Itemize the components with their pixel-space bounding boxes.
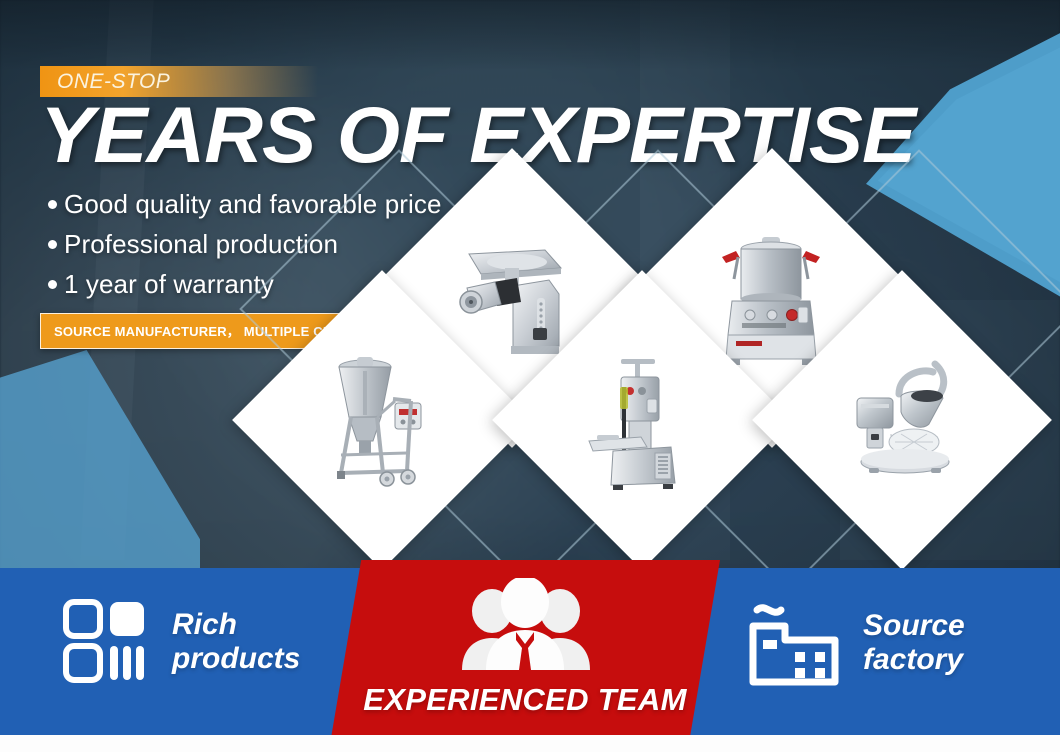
team-people-icon xyxy=(450,578,600,674)
experienced-team-content: EXPERIENCED TEAM xyxy=(355,578,695,718)
feature-label-line1: Rich xyxy=(172,608,300,642)
feature-label-line1: Source xyxy=(863,609,965,643)
feature-label: Rich products xyxy=(172,608,300,675)
product-tile-blender-trolley[interactable] xyxy=(232,270,532,570)
blender-trolley-image xyxy=(307,343,457,498)
feature-label: Source factory xyxy=(863,609,965,676)
factory-icon xyxy=(745,596,843,690)
product-diamond-gallery xyxy=(0,0,1060,600)
feature-label: EXPERIENCED TEAM xyxy=(363,682,686,718)
product-tile-bone-saw[interactable] xyxy=(492,270,792,570)
feature-label-line2: factory xyxy=(863,643,965,677)
grid-products-icon xyxy=(60,596,152,688)
bottom-white-strip xyxy=(0,735,1060,752)
ice-shaver-image xyxy=(827,350,977,490)
feature-source-factory[interactable]: Source factory xyxy=(745,596,965,690)
bone-saw-image xyxy=(567,343,717,498)
promo-banner: ONE-STOP YEARS OF EXPERTISE Good quality… xyxy=(0,0,1060,752)
feature-rich-products[interactable]: Rich products xyxy=(60,596,300,688)
feature-label-line2: products xyxy=(172,642,300,676)
product-tile-ice-shaver[interactable] xyxy=(752,270,1052,570)
